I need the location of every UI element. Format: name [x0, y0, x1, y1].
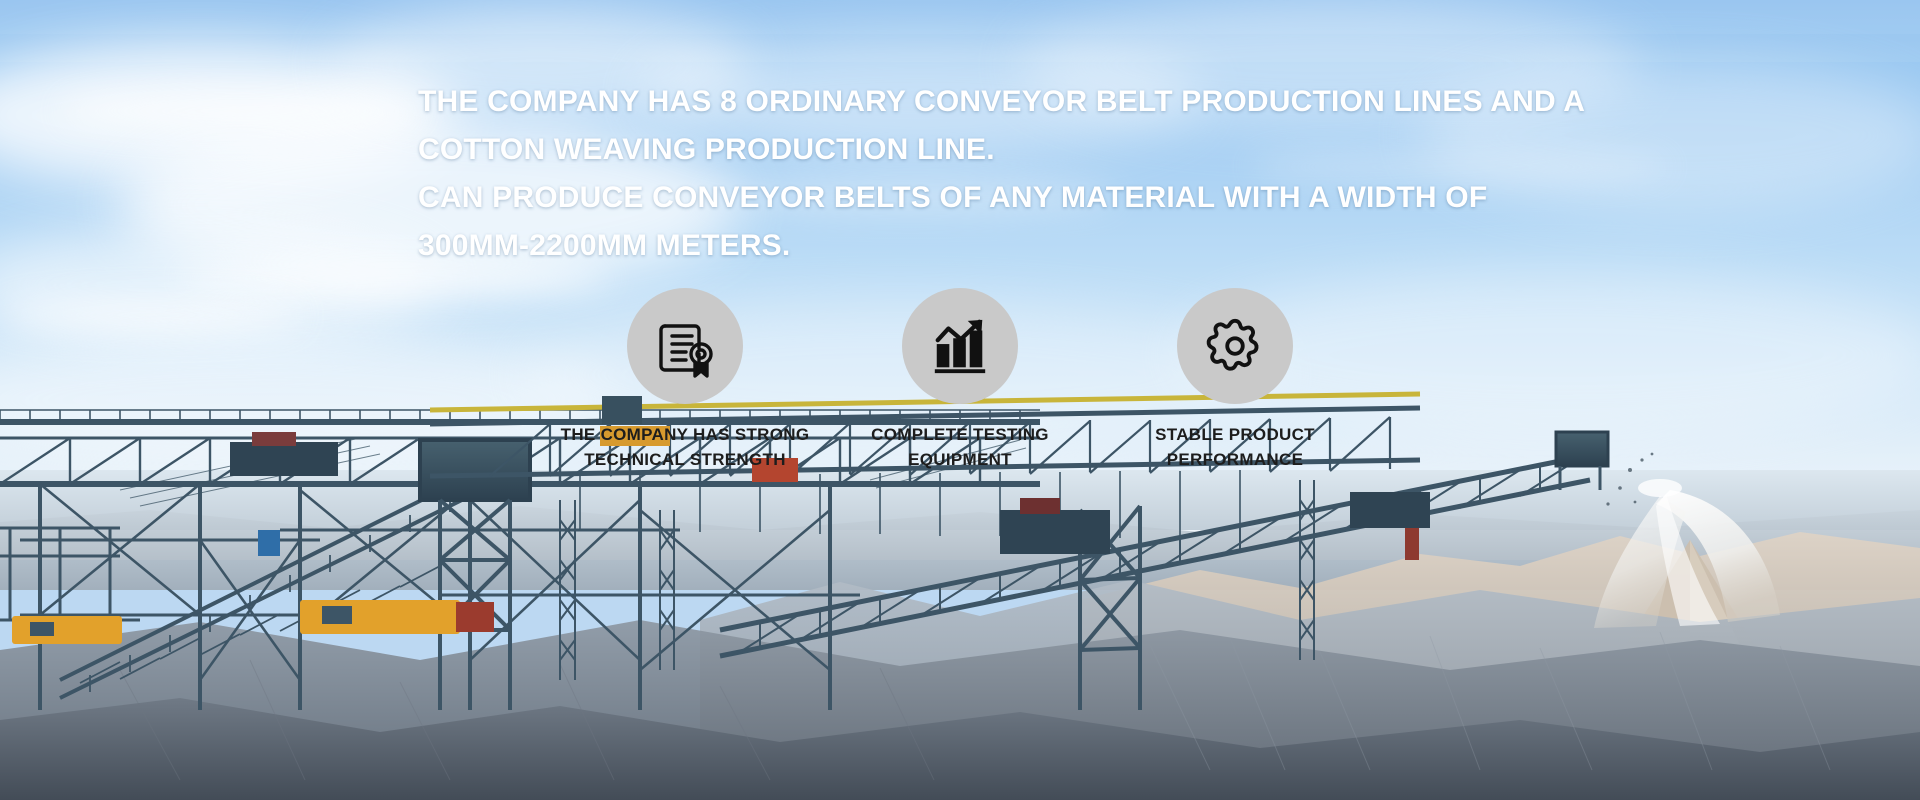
feature-item-technical-strength[interactable]: THE COMPANY HAS STRONG TECHNICAL STRENGT…	[560, 288, 810, 472]
growth-bar-chart-icon	[929, 315, 991, 377]
feature-badge-1	[627, 288, 743, 404]
feature-list: THE COMPANY HAS STRONG TECHNICAL STRENGT…	[560, 288, 1360, 478]
feature-label-2: COMPLETE TESTING EQUIPMENT	[845, 422, 1075, 472]
headline-line-1: THE COMPANY HAS 8 ORDINARY CONVEYOR BELT…	[418, 78, 1668, 126]
feature-badge-2	[902, 288, 1018, 404]
headline-line-2: COTTON WEAVING PRODUCTION LINE.	[418, 126, 1668, 174]
hero-banner: THE COMPANY HAS 8 ORDINARY CONVEYOR BELT…	[0, 0, 1920, 800]
feature-badge-3	[1177, 288, 1293, 404]
headline: THE COMPANY HAS 8 ORDINARY CONVEYOR BELT…	[418, 78, 1668, 270]
certificate-award-icon	[653, 314, 717, 378]
feature-label-3: STABLE PRODUCT PERFORMANCE	[1120, 422, 1350, 472]
feature-item-stable-performance[interactable]: STABLE PRODUCT PERFORMANCE	[1110, 288, 1360, 472]
feature-label-1: THE COMPANY HAS STRONG TECHNICAL STRENGT…	[560, 422, 810, 472]
gear-icon	[1204, 315, 1266, 377]
headline-line-4: 300MM-2200MM METERS.	[418, 222, 1668, 270]
headline-line-3: CAN PRODUCE CONVEYOR BELTS OF ANY MATERI…	[418, 174, 1668, 222]
feature-item-testing-equipment[interactable]: COMPLETE TESTING EQUIPMENT	[835, 288, 1085, 472]
